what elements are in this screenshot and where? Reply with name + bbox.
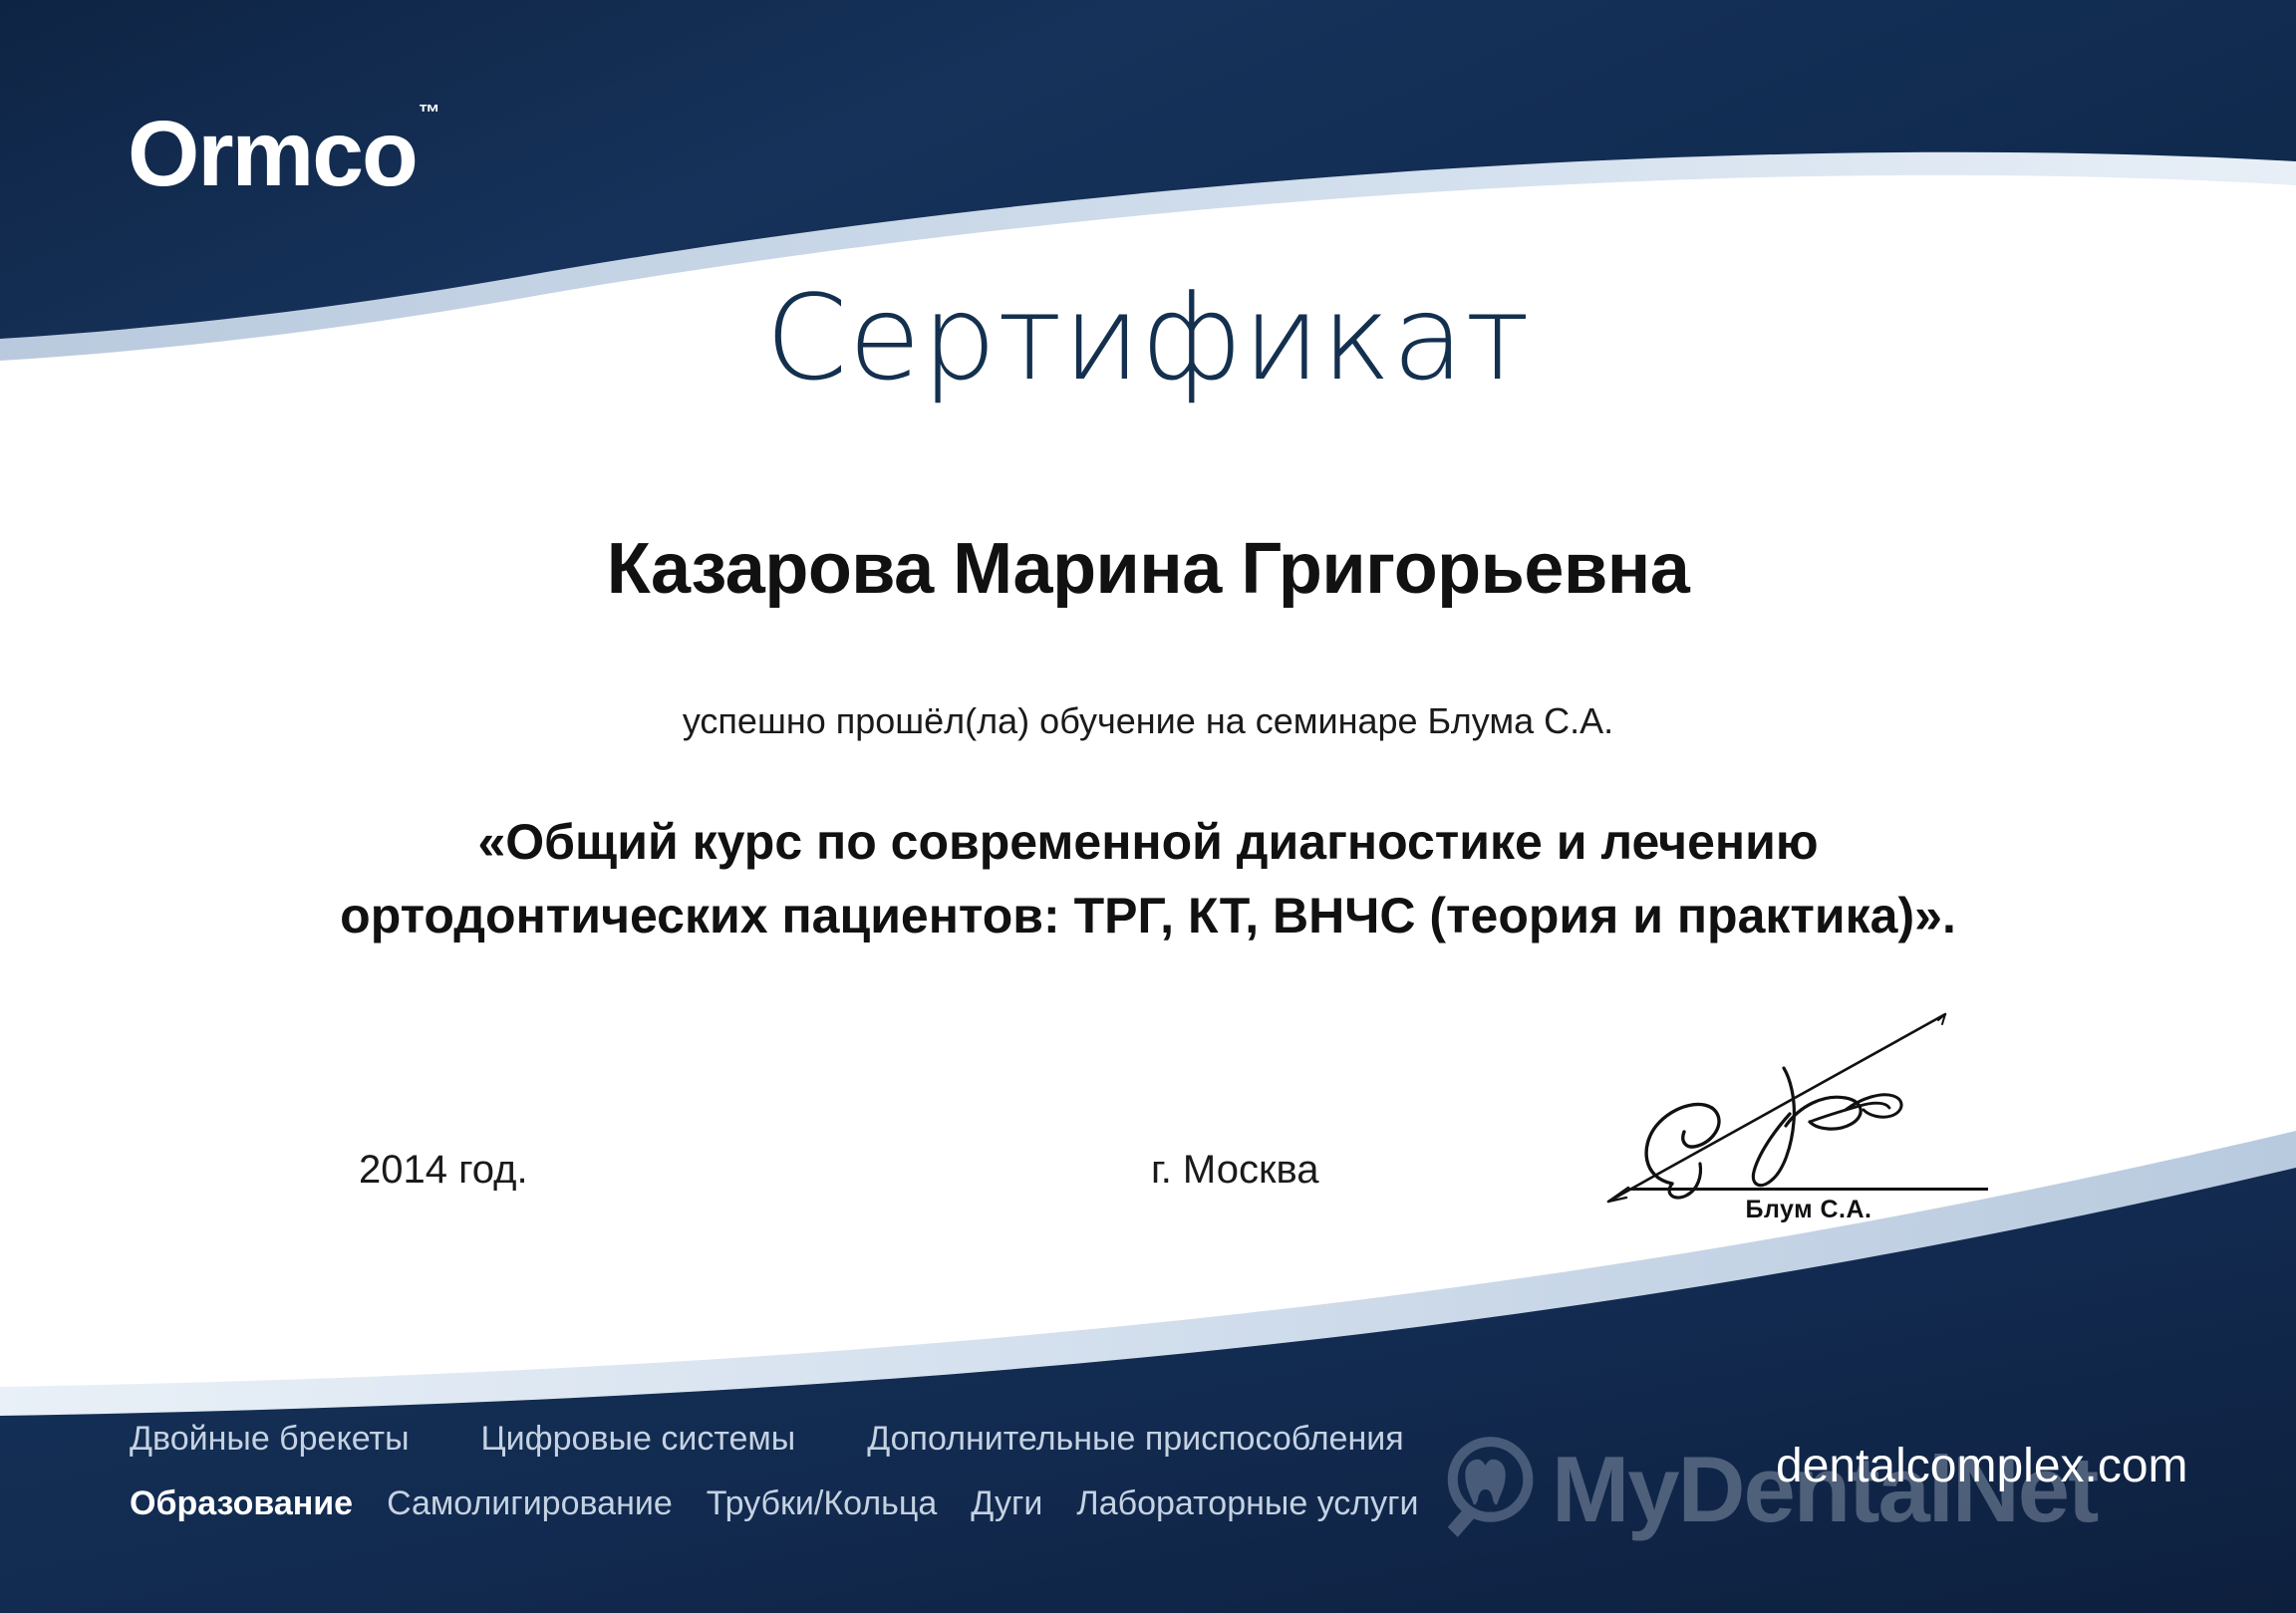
ormco-logo-text: Ormco bbox=[128, 102, 417, 205]
footer-item-archwires[interactable]: Дуги bbox=[971, 1484, 1042, 1523]
issue-year: 2014 год. bbox=[359, 1148, 528, 1193]
footer-item-education[interactable]: Образование bbox=[130, 1484, 353, 1523]
footer-item-double-brackets[interactable]: Двойные брекеты bbox=[130, 1420, 410, 1459]
signature-rule bbox=[1629, 1188, 1988, 1191]
site-url[interactable]: dentalcomplex.com bbox=[1776, 1439, 2188, 1493]
signatory-name: Блум С.А. bbox=[1594, 1196, 2023, 1224]
footer-item-digital-systems[interactable]: Цифровые системы bbox=[481, 1420, 796, 1459]
trademark-symbol: ™ bbox=[419, 100, 440, 125]
course-title-line-2: ортодонтических пациентов: ТРГ, КТ, ВНЧС… bbox=[0, 879, 2296, 952]
certificate-title: Сертификат bbox=[0, 269, 2296, 406]
completion-statement: успешно прошёл(ла) обучение на семинаре … bbox=[0, 700, 2296, 742]
course-title-line-1: «Общий курс по современной диагностике и… bbox=[0, 805, 2296, 879]
signature-block: Блум С.А. bbox=[1594, 1006, 2023, 1235]
handwritten-signature-icon bbox=[1594, 1006, 2023, 1206]
issue-city: г. Москва bbox=[1151, 1148, 1319, 1193]
footer-nav-row-2: Образование Самолигирование Трубки/Кольц… bbox=[130, 1484, 1453, 1523]
footer-item-lab-services[interactable]: Лабораторные услуги bbox=[1076, 1484, 1418, 1523]
recipient-name: Казарова Марина Григорьевна bbox=[0, 528, 2296, 610]
footer-item-tubes-bands[interactable]: Трубки/Кольца bbox=[707, 1484, 937, 1523]
footer-nav-row-1: Двойные брекеты Цифровые системы Дополни… bbox=[130, 1420, 1476, 1459]
ormco-logo: Ormco™ bbox=[128, 108, 438, 200]
course-title: «Общий курс по современной диагностике и… bbox=[0, 805, 2296, 952]
footer-item-accessories[interactable]: Дополнительные приспособления bbox=[867, 1420, 1403, 1459]
certificate-document: Ormco™ Сертификат Казарова Марина Григор… bbox=[0, 0, 2296, 1613]
footer-item-self-ligation[interactable]: Самолигирование bbox=[387, 1484, 673, 1523]
